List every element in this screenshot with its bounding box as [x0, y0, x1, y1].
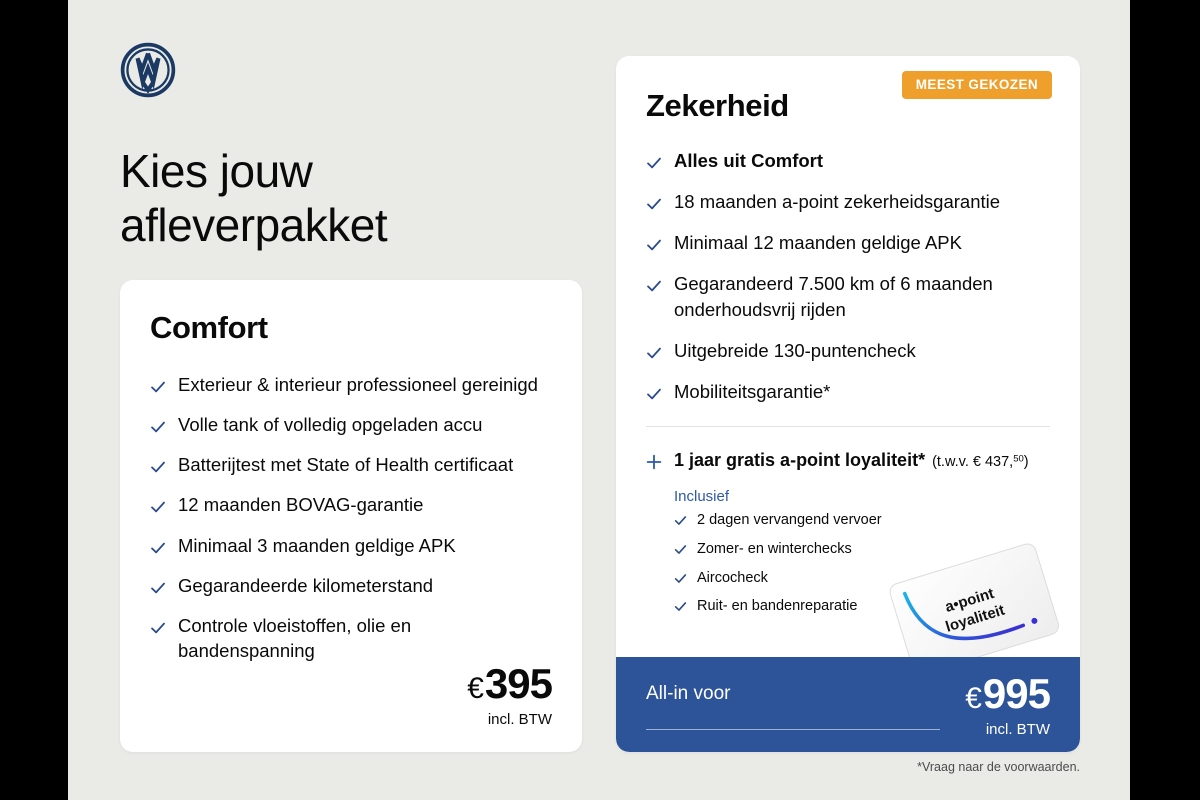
all-in-label: All-in voor: [646, 683, 730, 705]
check-icon: [646, 152, 662, 168]
package-card-zekerheid[interactable]: MEEST GEKOZEN Zekerheid Alles uit Comfor…: [616, 56, 1080, 752]
loyalty-worth: (t.w.v. € 437,50): [932, 454, 1029, 470]
check-icon: [150, 416, 166, 432]
check-icon: [150, 617, 166, 633]
loyalty-worth-cents: 50: [1013, 454, 1024, 465]
package-card-comfort[interactable]: Comfort Exterieur & interieur profession…: [120, 280, 582, 752]
zekerheid-price-footer: All-in voor €995 incl. BTW: [616, 657, 1080, 752]
loyalty-worth-prefix: (t.w.v. € 437,: [932, 454, 1013, 470]
list-item: Minimaal 12 maanden geldige APK: [646, 230, 1050, 255]
footer-rule: [646, 729, 940, 730]
comfort-card-body: Comfort Exterieur & interieur profession…: [120, 280, 582, 663]
check-icon: [646, 383, 662, 399]
feature-text: Zomer- en winterchecks: [697, 540, 852, 560]
poster-canvas: Kies jouw afleverpakket Comfort Exterieu…: [68, 0, 1130, 800]
headline-line-1: Kies jouw: [120, 145, 312, 197]
loyalty-included-list: 2 dagen vervangend vervoer Zomer- en win…: [674, 511, 1050, 616]
list-item: 12 maanden BOVAG-garantie: [150, 492, 552, 517]
plus-icon: [646, 454, 662, 470]
inclusief-label: Inclusief: [674, 488, 1050, 505]
feature-text: 12 maanden BOVAG-garantie: [178, 492, 423, 517]
check-icon: [646, 275, 662, 291]
check-icon: [150, 577, 166, 593]
status-badge: MEEST GEKOZEN: [902, 71, 1052, 99]
zekerheid-card-body: Zekerheid Alles uit Comfort 18 maanden a…: [616, 56, 1080, 617]
list-item: 2 dagen vervangend vervoer: [674, 511, 1050, 531]
list-item: Alles uit Comfort: [646, 148, 1050, 173]
loyalty-title: 1 jaar gratis a-point loyaliteit*(t.w.v.…: [674, 449, 1029, 472]
list-item: Volle tank of volledig opgeladen accu: [150, 412, 552, 437]
zekerheid-price-block: €995 incl. BTW: [965, 673, 1050, 738]
feature-text: Controle vloeistoffen, olie en bandenspa…: [178, 613, 552, 663]
list-item: Controle vloeistoffen, olie en bandenspa…: [150, 613, 552, 663]
list-item: Gegarandeerd 7.500 km of 6 maanden onder…: [646, 271, 1050, 321]
list-item: Minimaal 3 maanden geldige APK: [150, 533, 552, 558]
feature-text: Gegarandeerd 7.500 km of 6 maanden onder…: [674, 271, 1050, 321]
section-divider: [646, 426, 1050, 427]
feature-text: Batterijtest met State of Health certifi…: [178, 452, 513, 477]
loyalty-title-text: 1 jaar gratis a-point loyaliteit*: [674, 450, 925, 470]
feature-text: Ruit- en bandenreparatie: [697, 597, 857, 617]
feature-text: Aircocheck: [697, 569, 768, 589]
check-icon: [674, 600, 687, 613]
page-title: Kies jouw afleverpakket: [120, 144, 590, 253]
comfort-price-block: €395 incl. BTW: [467, 663, 552, 728]
list-item: 18 maanden a-point zekerheidsgarantie: [646, 189, 1050, 214]
list-item: Zomer- en winterchecks: [674, 540, 1050, 560]
list-item: Mobiliteitsgarantie*: [646, 379, 1050, 404]
price-amount: 995: [983, 670, 1050, 717]
volkswagen-logo: [120, 42, 590, 98]
feature-text: Alles uit Comfort: [674, 148, 823, 173]
promo-poster: Kies jouw afleverpakket Comfort Exterieu…: [0, 0, 1200, 800]
check-icon: [646, 193, 662, 209]
loyalty-offer-row: 1 jaar gratis a-point loyaliteit*(t.w.v.…: [646, 449, 1050, 472]
currency-symbol: €: [965, 682, 982, 715]
feature-text: 18 maanden a-point zekerheidsgarantie: [674, 189, 1000, 214]
currency-symbol: €: [467, 672, 484, 705]
check-icon: [674, 572, 687, 585]
check-icon: [674, 543, 687, 556]
left-column: Kies jouw afleverpakket: [120, 42, 590, 253]
comfort-title: Comfort: [150, 280, 552, 346]
feature-text: Mobiliteitsgarantie*: [674, 379, 830, 404]
feature-text: 2 dagen vervangend vervoer: [697, 511, 882, 531]
comfort-price: €395: [467, 663, 552, 705]
loyalty-worth-suffix: ): [1024, 454, 1029, 470]
check-icon: [150, 456, 166, 472]
zekerheid-feature-list: Alles uit Comfort 18 maanden a-point zek…: [646, 148, 1050, 404]
list-item: Aircocheck: [674, 569, 1050, 589]
footnote: *Vraag naar de voorwaarden.: [616, 760, 1080, 774]
check-icon: [150, 496, 166, 512]
feature-text: Minimaal 3 maanden geldige APK: [178, 533, 456, 558]
feature-text: Gegarandeerde kilometerstand: [178, 573, 433, 598]
comfort-feature-list: Exterieur & interieur professioneel gere…: [150, 372, 552, 663]
feature-text: Volle tank of volledig opgeladen accu: [178, 412, 482, 437]
check-icon: [150, 376, 166, 392]
list-item: Exterieur & interieur professioneel gere…: [150, 372, 552, 397]
feature-text: Exterieur & interieur professioneel gere…: [178, 372, 538, 397]
feature-text: Minimaal 12 maanden geldige APK: [674, 230, 962, 255]
check-icon: [150, 537, 166, 553]
list-item: Gegarandeerde kilometerstand: [150, 573, 552, 598]
check-icon: [646, 234, 662, 250]
headline-line-2: afleverpakket: [120, 199, 387, 251]
list-item: Batterijtest met State of Health certifi…: [150, 452, 552, 477]
zekerheid-price: €995: [965, 673, 1050, 715]
feature-text: Uitgebreide 130-puntencheck: [674, 338, 916, 363]
comfort-price-vat-note: incl. BTW: [467, 711, 552, 728]
list-item: Ruit- en bandenreparatie: [674, 597, 1050, 617]
list-item: Uitgebreide 130-puntencheck: [646, 338, 1050, 363]
check-icon: [646, 342, 662, 358]
check-icon: [674, 514, 687, 527]
zekerheid-price-vat-note: incl. BTW: [965, 721, 1050, 738]
price-amount: 395: [485, 660, 552, 707]
